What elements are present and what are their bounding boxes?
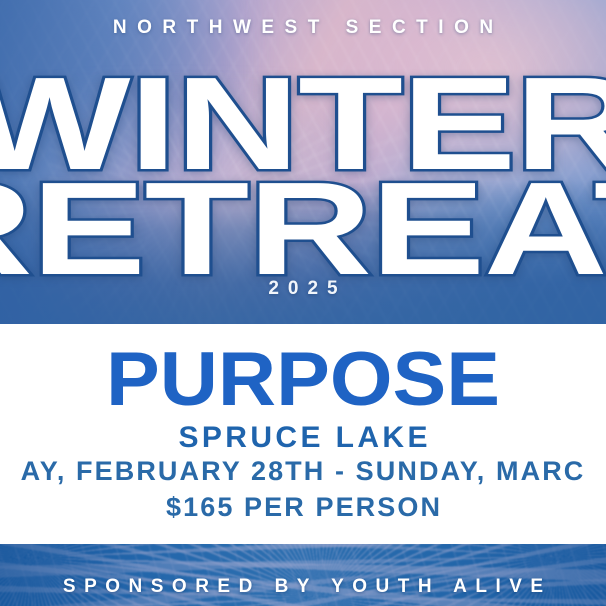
- event-dates: AY, FEBRUARY 28TH - SUNDAY, MARC: [21, 456, 586, 487]
- eyebrow-section-label: NORTHWEST SECTION: [0, 17, 606, 39]
- sponsor-text: SPONSORED BY YOUTH ALIVE: [0, 576, 606, 598]
- headline-retreat: RETREAT: [0, 163, 606, 295]
- details-panel: PURPOSE SPRUCE LAKE AY, FEBRUARY 28TH - …: [0, 324, 606, 544]
- year-label: 2025: [0, 278, 606, 300]
- theme-title-purpose: PURPOSE: [106, 342, 500, 418]
- venue-name: SPRUCE LAKE: [0, 421, 606, 455]
- hero-photo-panel: NORTHWEST SECTION WINTER RETREAT 2025: [0, 0, 606, 324]
- winter-retreat-poster: NORTHWEST SECTION WINTER RETREAT 2025 PU…: [0, 0, 606, 606]
- event-price: $165 PER PERSON: [0, 492, 606, 523]
- sponsor-banner: SPONSORED BY YOUTH ALIVE: [0, 544, 606, 606]
